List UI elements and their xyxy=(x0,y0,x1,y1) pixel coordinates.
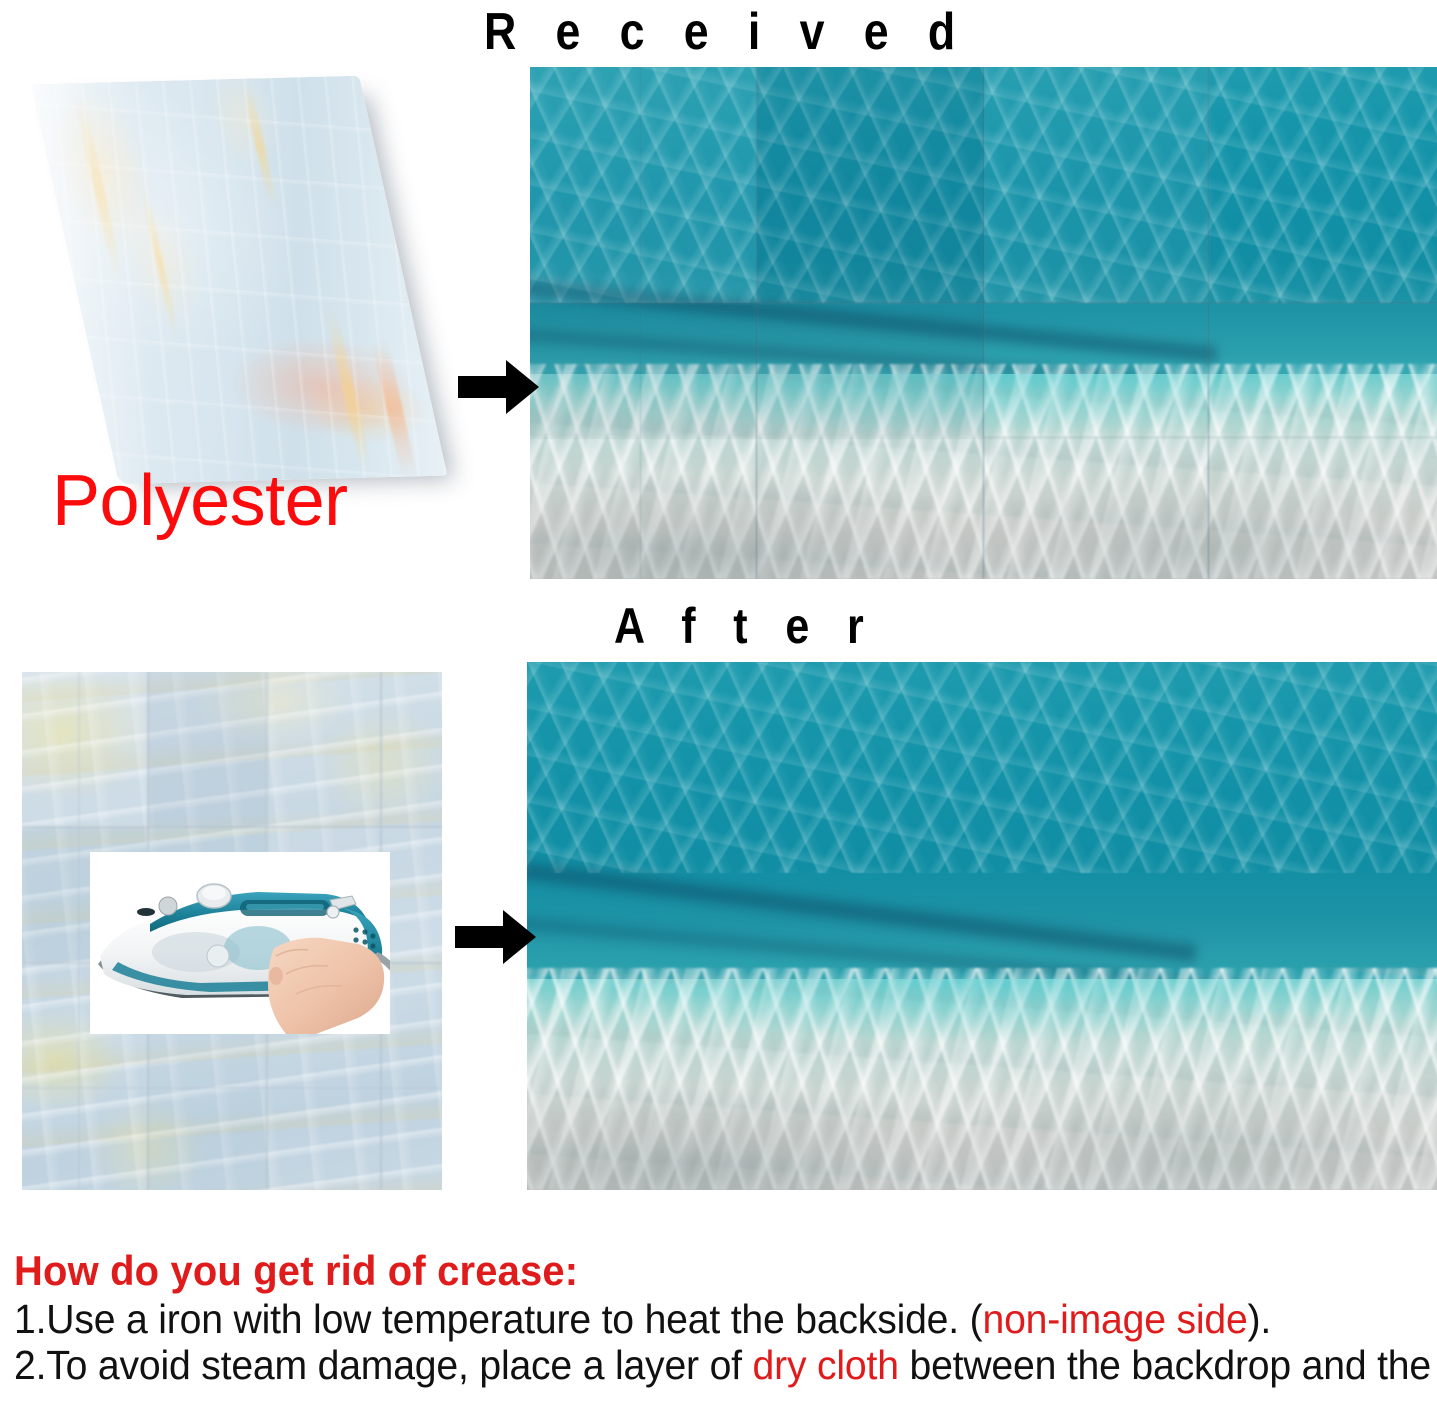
instruction-1-prefix: 1.Use a iron with low temperature to hea… xyxy=(14,1296,982,1342)
steam-iron-photo xyxy=(90,852,390,1034)
instruction-1-highlight: non-image side xyxy=(982,1296,1247,1342)
steam-iron-icon xyxy=(90,852,390,1034)
instruction-2-highlight: dry cloth xyxy=(753,1342,899,1388)
instruction-2-suffix: between the backdrop and the iron. xyxy=(899,1342,1437,1388)
folded-fabric-swatch-image xyxy=(31,76,447,485)
instruction-2-prefix: 2.To avoid steam damage, place a layer o… xyxy=(14,1342,753,1388)
received-photo xyxy=(530,67,1437,579)
section-title-received: R e c e i v e d xyxy=(484,2,969,62)
material-label-polyester: Polyester xyxy=(52,460,348,542)
instructions-heading: How do you get rid of crease: xyxy=(14,1248,1363,1293)
after-photo xyxy=(527,662,1437,1190)
instructions-block: How do you get rid of crease: 1.Use a ir… xyxy=(14,1248,1434,1389)
section-title-after: A f t e r xyxy=(614,597,877,655)
right-arrow-icon xyxy=(455,908,537,966)
right-arrow-icon xyxy=(458,358,540,416)
folded-fabric-swatch xyxy=(8,72,428,492)
instruction-1-suffix: ). xyxy=(1248,1296,1272,1342)
instruction-line-2: 2.To avoid steam damage, place a layer o… xyxy=(14,1343,1370,1389)
instruction-line-1: 1.Use a iron with low temperature to hea… xyxy=(14,1297,1370,1343)
